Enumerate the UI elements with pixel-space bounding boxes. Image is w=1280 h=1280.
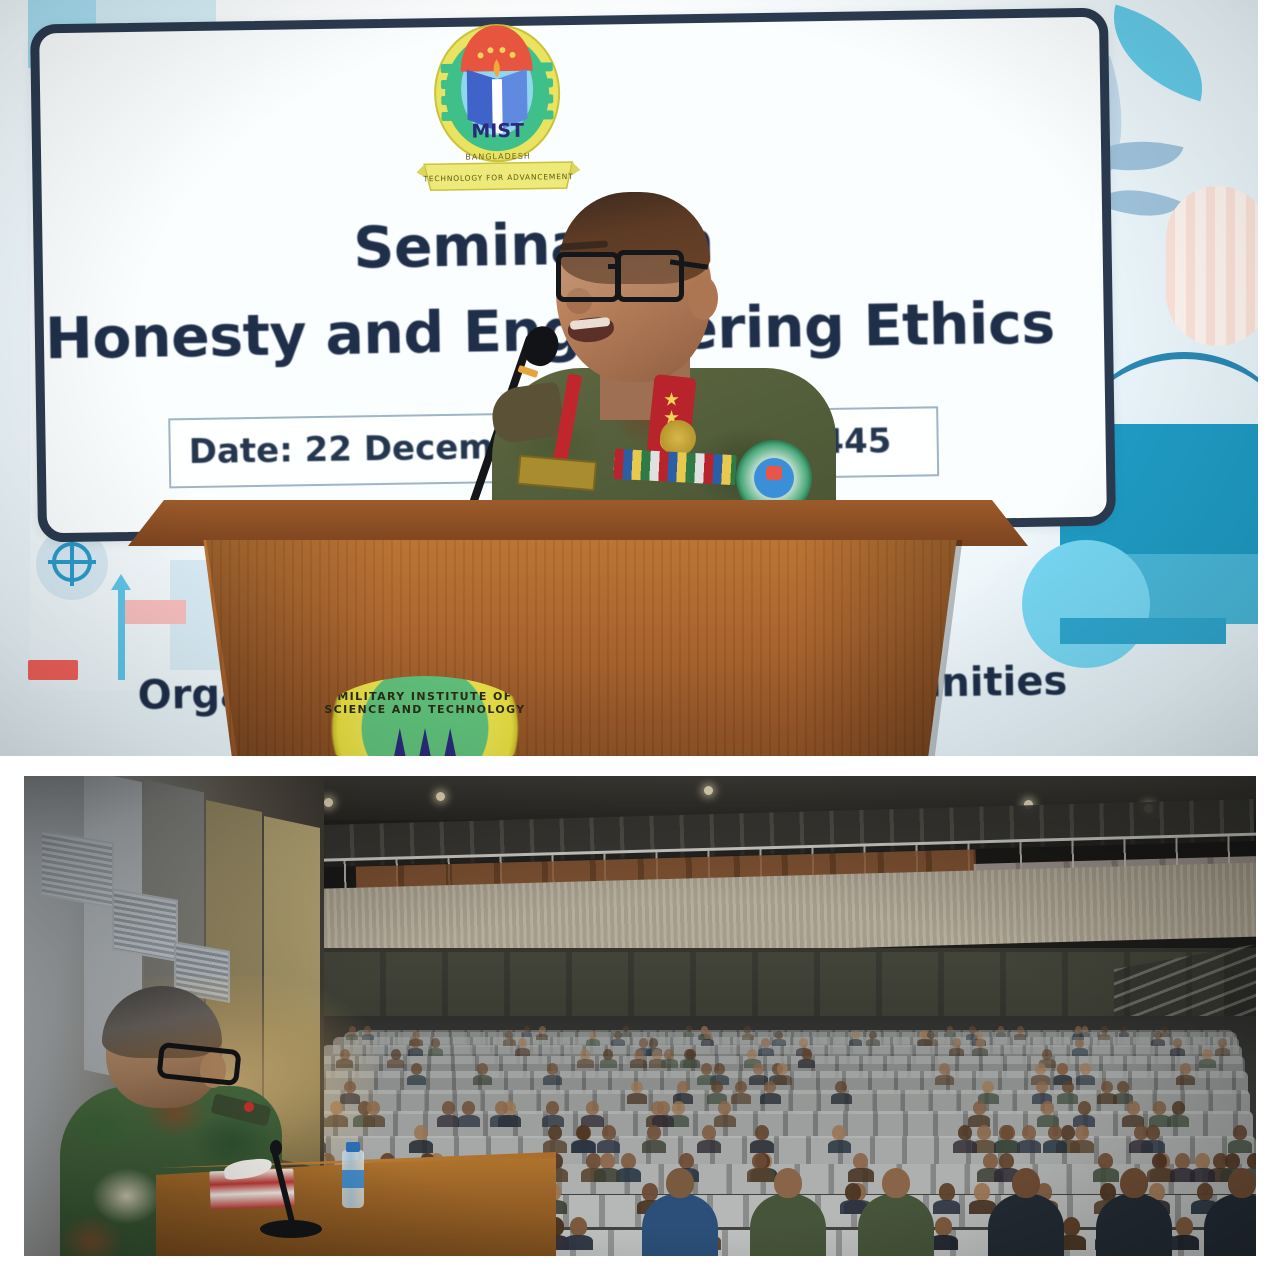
audience-member-body xyxy=(1098,1034,1110,1040)
vip-army-officer xyxy=(750,1194,826,1256)
vip-head xyxy=(774,1168,802,1198)
audience-member xyxy=(1180,1063,1191,1075)
podium-top-surface xyxy=(128,500,1028,546)
decor-pink-bar xyxy=(120,600,186,624)
eyeglasses-lens-right xyxy=(616,250,684,302)
audience-member xyxy=(1101,1026,1108,1034)
audience-member xyxy=(1175,1153,1190,1169)
audience-member xyxy=(1042,1049,1052,1060)
audience-member-body xyxy=(831,1093,851,1104)
audience-member-body xyxy=(731,1093,751,1104)
photo-collage-page: MIST BANGLADESH TECHNOLOGY FOR ADVANCEME… xyxy=(0,0,1280,1280)
audience-member-body xyxy=(571,1140,595,1153)
mist-unit-patch-emblem xyxy=(766,466,782,480)
ceiling-downlight xyxy=(436,792,445,801)
decor-blue-block xyxy=(1060,618,1226,644)
audience-member-body xyxy=(1097,1093,1117,1104)
decor-blue-circle xyxy=(1022,540,1150,668)
audience-member-body xyxy=(750,1140,774,1153)
speaker-ear xyxy=(688,276,718,320)
audience-member-body xyxy=(1176,1075,1195,1085)
audience-member xyxy=(939,1063,950,1075)
audience-member-body xyxy=(953,1140,977,1153)
table-microphone-base xyxy=(260,1220,322,1238)
audience-member xyxy=(679,1153,694,1169)
vip-head xyxy=(666,1168,694,1198)
audience-member xyxy=(580,1049,590,1060)
audience-member-body xyxy=(933,1200,960,1214)
audience-member-body xyxy=(409,1140,433,1153)
audience-member xyxy=(1101,1081,1113,1094)
audience-member xyxy=(704,1031,712,1040)
audience-member xyxy=(621,1153,636,1169)
audience-member xyxy=(977,1125,991,1140)
audience-member xyxy=(869,1031,877,1040)
audience-member-body xyxy=(773,1075,792,1085)
audience-member xyxy=(672,1101,685,1115)
audience-member xyxy=(976,1038,985,1048)
audience-member xyxy=(623,1026,629,1032)
audience-member xyxy=(835,1081,847,1094)
audience-member-body xyxy=(437,1115,459,1127)
audience-member xyxy=(1078,1101,1091,1115)
audience-member-body xyxy=(543,1075,562,1085)
audience-member xyxy=(1098,1153,1113,1169)
audience-member xyxy=(1247,1153,1256,1169)
up-arrow-icon xyxy=(118,588,125,680)
audience-member-body xyxy=(866,1039,880,1046)
audience-member xyxy=(1225,1153,1240,1169)
decor-red-bar xyxy=(28,660,78,680)
audience-member xyxy=(753,1063,764,1075)
audience-member xyxy=(586,1153,601,1169)
audience-member-body xyxy=(428,1048,443,1056)
audience-member xyxy=(958,1125,972,1140)
audience-member-body xyxy=(621,1032,631,1037)
audience-member xyxy=(853,1153,868,1169)
audience-member-body xyxy=(577,1059,594,1068)
audience-member-body xyxy=(1119,1032,1129,1037)
audience-member-body xyxy=(594,1168,620,1182)
vip-civilian-suit xyxy=(988,1194,1064,1256)
audience-member-body xyxy=(1014,1034,1026,1040)
audience-member-body xyxy=(1072,1048,1087,1056)
water-bottle-label xyxy=(342,1170,364,1188)
audience-member xyxy=(973,1101,986,1115)
audience-member-body xyxy=(387,1059,404,1068)
ceiling-downlight xyxy=(324,798,333,807)
audience-member xyxy=(714,1063,725,1075)
audience-member xyxy=(1146,1125,1160,1140)
audience-member xyxy=(589,1031,597,1040)
audience-member-body xyxy=(697,1140,721,1153)
audience-member xyxy=(1153,1101,1166,1115)
audience-member xyxy=(1082,1026,1088,1032)
audience-member xyxy=(845,1183,861,1200)
audience-member-body xyxy=(515,1048,530,1056)
audience-member-body xyxy=(924,1039,938,1046)
audience-member-body xyxy=(828,1140,852,1153)
audience-member-body xyxy=(458,1115,480,1127)
audience-member xyxy=(744,1026,751,1034)
vip-head xyxy=(1120,1168,1148,1198)
audience-member-body xyxy=(1151,1039,1165,1046)
ceiling-downlight xyxy=(704,786,713,795)
audience-member xyxy=(570,1217,587,1235)
audience-member-body xyxy=(798,1059,815,1068)
audience-member xyxy=(999,1153,1014,1169)
podium-seal-text: MILITARY INSTITUTE OF SCIENCE AND TECHNO… xyxy=(316,690,534,716)
audience-member xyxy=(414,1125,428,1140)
audience-member xyxy=(1061,1125,1075,1140)
audience-member xyxy=(764,1081,776,1094)
audience-member xyxy=(1080,1063,1091,1075)
auditorium-scene xyxy=(24,776,1256,1256)
audience-member xyxy=(462,1101,475,1115)
audience-member xyxy=(546,1101,559,1115)
audience-member-body xyxy=(949,1048,964,1056)
audience-member xyxy=(649,1038,658,1048)
audience-member xyxy=(1195,1153,1210,1169)
audience-member xyxy=(686,1026,692,1032)
audience-member xyxy=(1035,1063,1046,1075)
audience-member xyxy=(647,1125,661,1140)
audience-member xyxy=(1162,1026,1168,1032)
audience-member-body xyxy=(684,1032,694,1037)
audience-member xyxy=(411,1038,420,1048)
audience-member xyxy=(547,1063,558,1075)
audience-member-body xyxy=(701,1039,715,1046)
audience-member xyxy=(935,1217,952,1235)
audience-member-body xyxy=(1057,1093,1077,1104)
audience-member-body xyxy=(758,1048,773,1056)
audience-member xyxy=(1176,1217,1193,1235)
audience-member-body xyxy=(772,1039,786,1046)
audience-member-body xyxy=(490,1115,512,1127)
audience-member xyxy=(711,1081,723,1094)
audience-member xyxy=(1001,1125,1015,1140)
slide-title-line1: Seminar on xyxy=(33,205,1034,287)
audience-member-body xyxy=(1228,1140,1252,1153)
audience-member xyxy=(1233,1125,1247,1140)
audience-member-body xyxy=(586,1039,600,1046)
audience-member-body xyxy=(564,1235,593,1250)
audience-member-body xyxy=(935,1075,954,1085)
audience-member xyxy=(602,1125,616,1140)
audience-member xyxy=(1152,1153,1167,1169)
air-vent-grille xyxy=(40,829,114,908)
vip-army-officer xyxy=(858,1194,934,1256)
audience-member xyxy=(1075,1038,1084,1048)
audience-member xyxy=(983,1153,998,1169)
audience-member xyxy=(539,1026,546,1034)
audience-member-body xyxy=(1093,1168,1119,1182)
audience-member xyxy=(939,1183,955,1200)
audience-member xyxy=(614,1031,622,1040)
audience-member xyxy=(495,1101,508,1115)
audience-member xyxy=(1017,1026,1024,1034)
decor-striped-shape xyxy=(1166,186,1258,346)
audience-member xyxy=(1063,1217,1080,1235)
audience-member xyxy=(974,1183,990,1200)
audience-member-body xyxy=(1141,1140,1165,1153)
table-microphone-head xyxy=(270,1140,282,1156)
audience-member xyxy=(1127,1101,1140,1115)
audience-member-body xyxy=(597,1140,621,1153)
svg-text:MIST: MIST xyxy=(471,120,524,143)
audience-member xyxy=(431,1038,440,1048)
audience-member-body xyxy=(627,1093,647,1104)
eyeglasses-bridge xyxy=(608,264,620,269)
audience-member xyxy=(998,1026,1004,1032)
audience-member-body xyxy=(760,1093,780,1104)
audience-member-body xyxy=(1199,1059,1216,1068)
audience-member xyxy=(642,1183,658,1200)
audience-member xyxy=(524,1026,530,1032)
audience-member-body xyxy=(747,1168,773,1182)
audience-member xyxy=(761,1038,770,1048)
vip-navy-officer xyxy=(642,1194,718,1256)
audience-member-body xyxy=(661,1059,678,1068)
audience-member-body xyxy=(1043,1140,1067,1153)
audience-member-body xyxy=(473,1075,492,1085)
audience-member xyxy=(664,1049,674,1060)
water-bottle-cap xyxy=(346,1142,360,1152)
audience-member xyxy=(802,1049,812,1060)
audience-member xyxy=(1057,1063,1068,1075)
audience-member xyxy=(952,1038,961,1048)
audience-member-body xyxy=(600,1059,617,1068)
audience-member xyxy=(1197,1183,1213,1200)
mist-crest-logo: MIST BANGLADESH TECHNOLOGY FOR ADVANCEME… xyxy=(412,18,583,199)
audience-member xyxy=(799,1038,808,1048)
audience-member xyxy=(1121,1026,1127,1032)
audience-member-body xyxy=(1076,1075,1095,1085)
audience-member-body xyxy=(972,1048,987,1056)
svg-text:BANGLADESH: BANGLADESH xyxy=(465,152,531,162)
audience-member xyxy=(600,1153,615,1169)
audience-member xyxy=(718,1101,731,1115)
audience-member xyxy=(505,1031,513,1040)
audience-member xyxy=(1202,1049,1212,1060)
audience-member xyxy=(411,1063,422,1075)
eyeglasses-lens-left xyxy=(556,252,620,302)
vip-civilian-suit xyxy=(1096,1194,1172,1256)
audience-member xyxy=(1172,1101,1185,1115)
audience-member-body xyxy=(543,1140,567,1153)
audience-member xyxy=(518,1038,527,1048)
audience-member xyxy=(735,1081,747,1094)
audience-member xyxy=(1036,1081,1048,1094)
audience-member xyxy=(982,1081,994,1094)
audience-member xyxy=(477,1063,488,1075)
audience-member xyxy=(1041,1101,1054,1115)
audience-member-body xyxy=(1190,1168,1216,1182)
vip-head xyxy=(1012,1168,1040,1198)
audience-member-body xyxy=(503,1039,517,1046)
audience-member xyxy=(634,1049,644,1060)
audience-member xyxy=(1075,1026,1082,1034)
audience-member-body xyxy=(407,1075,426,1085)
audience-member xyxy=(1022,1125,1036,1140)
audience-member xyxy=(832,1125,846,1140)
audience-member xyxy=(1154,1031,1162,1040)
audience-member xyxy=(684,1049,694,1060)
audience-member xyxy=(677,1081,689,1094)
audience-member xyxy=(1173,1038,1182,1048)
audience-member-body xyxy=(944,1032,954,1037)
audience-member xyxy=(1075,1125,1089,1140)
medal-ribbon-bar xyxy=(613,449,736,485)
audience-member xyxy=(1062,1081,1074,1094)
top-photo: MIST BANGLADESH TECHNOLOGY FOR ADVANCEME… xyxy=(0,0,1258,756)
audience-member-body xyxy=(522,1032,532,1037)
audience-member-body xyxy=(630,1059,647,1068)
audience-member-body xyxy=(611,1039,625,1046)
audience-member xyxy=(755,1125,769,1140)
audience-member-body xyxy=(996,1032,1006,1037)
air-vent-grille xyxy=(112,888,178,962)
audience-member-body xyxy=(849,1039,863,1046)
audience-member xyxy=(442,1101,455,1115)
audience-member xyxy=(652,1049,662,1060)
audience-member xyxy=(747,1049,757,1060)
audience-member-body xyxy=(1017,1140,1041,1153)
audience-member xyxy=(775,1031,783,1040)
audience-member xyxy=(1218,1038,1227,1048)
audience-member xyxy=(701,1063,712,1075)
audience-member xyxy=(1117,1081,1129,1094)
audience-member-body xyxy=(848,1168,874,1182)
audience-member-body xyxy=(714,1115,736,1127)
audience-member-body xyxy=(1170,1048,1185,1056)
audience-member xyxy=(927,1031,935,1040)
audience-member-body xyxy=(408,1048,423,1056)
podium-seal-emblem xyxy=(390,728,460,756)
audience-member xyxy=(752,1153,767,1169)
bottom-photo xyxy=(24,776,1256,1256)
audience-member xyxy=(657,1101,670,1115)
audience-member-body xyxy=(742,1034,754,1040)
audience-member xyxy=(639,1038,648,1048)
vip-head xyxy=(882,1168,910,1198)
audience-member xyxy=(586,1101,599,1115)
audience-member xyxy=(603,1049,613,1060)
audience-member xyxy=(631,1081,643,1094)
audience-member-body xyxy=(1215,1048,1230,1056)
vip-head xyxy=(1228,1168,1256,1198)
audience-member-body xyxy=(642,1140,666,1153)
audience-member xyxy=(702,1125,716,1140)
audience-member-body xyxy=(536,1034,548,1040)
audience-member xyxy=(548,1125,562,1140)
audience-member xyxy=(1048,1125,1062,1140)
audience-member-body xyxy=(680,1059,697,1068)
audience-member xyxy=(947,1026,953,1032)
audience-member xyxy=(391,1049,401,1060)
audience-member-body xyxy=(1147,1168,1173,1182)
audience-member xyxy=(777,1063,788,1075)
audience-member xyxy=(852,1031,860,1040)
